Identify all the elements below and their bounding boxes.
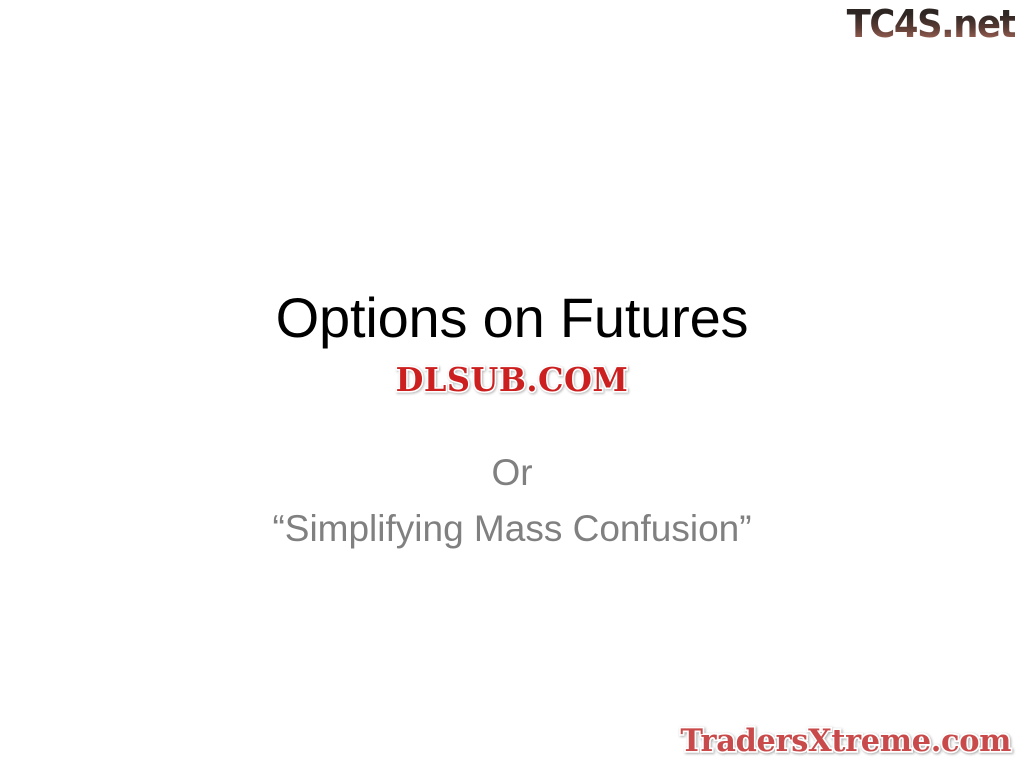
dlsub-watermark-text: DLSUB.COM: [396, 361, 629, 399]
slide-subtitle: Or “Simplifying Mass Confusion”: [0, 445, 1024, 557]
tradersxtreme-watermark: TradersXtreme.com: [677, 722, 1014, 760]
presentation-slide: TC4S.net Options on Futures DLSUB.COM Or…: [0, 0, 1024, 768]
subtitle-line-or: Or: [0, 445, 1024, 501]
subtitle-line-quote: “Simplifying Mass Confusion”: [0, 501, 1024, 557]
tradersxtreme-watermark-text: TradersXtreme.com: [680, 722, 1011, 760]
dlsub-watermark: DLSUB.COM: [0, 361, 1024, 399]
tc4s-watermark-logo: TC4S.net: [847, 2, 1015, 46]
slide-title: Options on Futures: [0, 287, 1024, 349]
